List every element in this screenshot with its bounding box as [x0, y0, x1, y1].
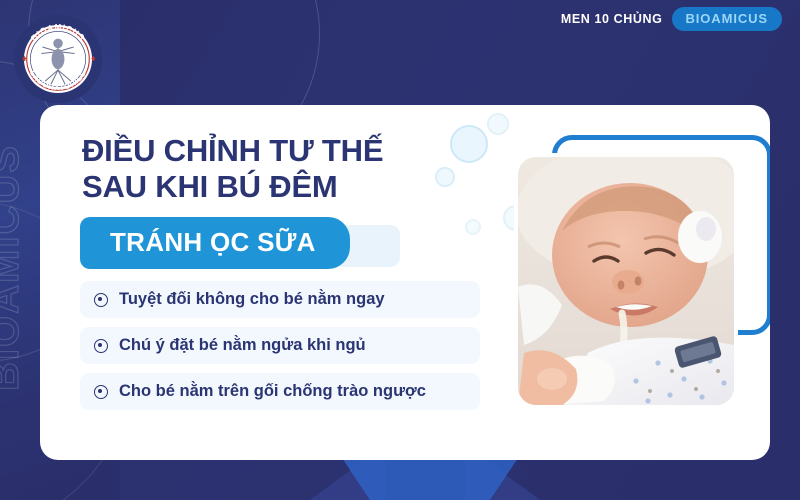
list-item: Chú ý đặt bé nằm ngửa khi ngủ: [80, 327, 480, 364]
bubble-decoration: [465, 219, 481, 235]
highlight-banner: TRÁNH ỌC SỮA: [80, 217, 350, 269]
brand-pill: BIOAMICUS: [672, 7, 783, 31]
bullet-icon: [94, 293, 108, 307]
baby-photo: [518, 157, 734, 405]
page-title: ĐIỀU CHỈNH TƯ THẾ SAU KHI BÚ ĐÊM: [82, 133, 452, 205]
vitruvian-man-seal-icon: BIOAMICUS LABORATORIES: [12, 13, 104, 105]
advice-list: Tuyệt đối không cho bé nằm ngay Chú ý đặ…: [80, 281, 480, 419]
header-bar: MEN 10 CHỦNG BIOAMICUS: [0, 0, 800, 38]
header-label: MEN 10 CHỦNG: [561, 12, 663, 26]
list-item: Tuyệt đối không cho bé nằm ngay: [80, 281, 480, 318]
content-card: ĐIỀU CHỈNH TƯ THẾ SAU KHI BÚ ĐÊM TRÁNH Ọ…: [40, 105, 770, 460]
bubble-decoration: [487, 113, 509, 135]
page-title-line-2: SAU KHI BÚ ĐÊM: [82, 169, 452, 205]
page-title-line-1: ĐIỀU CHỈNH TƯ THẾ: [82, 133, 452, 169]
bullet-icon: [94, 385, 108, 399]
slide-canvas: BIOAMICUS MEN 10 CHỦNG BIOAMICUS: [0, 0, 800, 500]
bioamicus-logo: BIOAMICUS LABORATORIES: [12, 13, 104, 105]
list-item: Cho bé nằm trên gối chống trào ngược: [80, 373, 480, 410]
list-item-label: Chú ý đặt bé nằm ngửa khi ngủ: [119, 336, 366, 355]
list-item-label: Tuyệt đối không cho bé nằm ngay: [119, 290, 385, 309]
watermark-text: BIOAMICUS: [0, 144, 28, 391]
bullet-icon: [94, 339, 108, 353]
list-item-label: Cho bé nằm trên gối chống trào ngược: [119, 382, 426, 401]
baby-photo-illustration: [518, 157, 734, 405]
bubble-decoration: [450, 125, 488, 163]
